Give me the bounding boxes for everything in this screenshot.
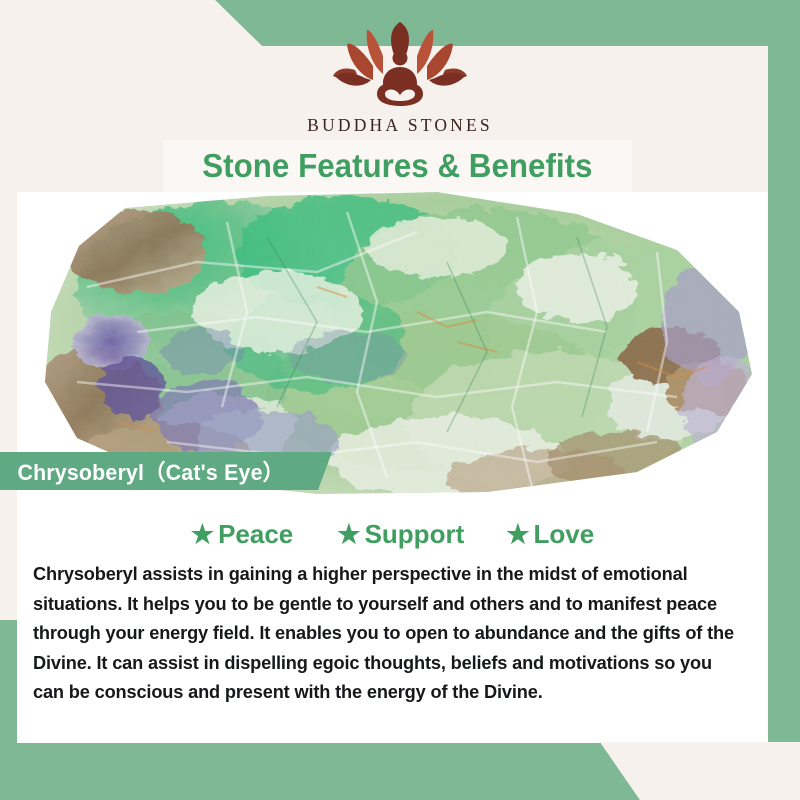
keyword-label: Love — [534, 519, 595, 550]
stone-description: Chrysoberyl assists in gaining a higher … — [33, 560, 739, 708]
keyword-peace: ★ Peace — [191, 519, 294, 550]
stone-name-text: Chrysoberyl（Cat's Eye） — [0, 455, 284, 487]
brand-name: BUDDHA STONES — [307, 115, 493, 136]
brand-logo: BUDDHA STONES — [0, 22, 800, 136]
lotus-meditating-buddha-icon — [325, 22, 475, 110]
star-icon: ★ — [506, 521, 529, 547]
page-title: Stone Features & Benefits — [202, 147, 592, 185]
stone-photo — [17, 192, 768, 497]
star-icon: ★ — [191, 521, 214, 547]
keyword-support: ★ Support — [337, 519, 464, 550]
keyword-label: Support — [365, 519, 465, 550]
star-icon: ★ — [337, 521, 360, 547]
keyword-row: ★ Peace ★ Support ★ Love — [17, 514, 768, 554]
title-banner: Stone Features & Benefits — [163, 140, 632, 192]
keyword-label: Peace — [218, 519, 293, 550]
frame-border-bottom — [0, 742, 640, 800]
keyword-love: ★ Love — [506, 519, 594, 550]
poster-canvas: BUDDHA STONES — [0, 0, 800, 800]
stone-name-label: Chrysoberyl（Cat's Eye） — [0, 452, 332, 490]
